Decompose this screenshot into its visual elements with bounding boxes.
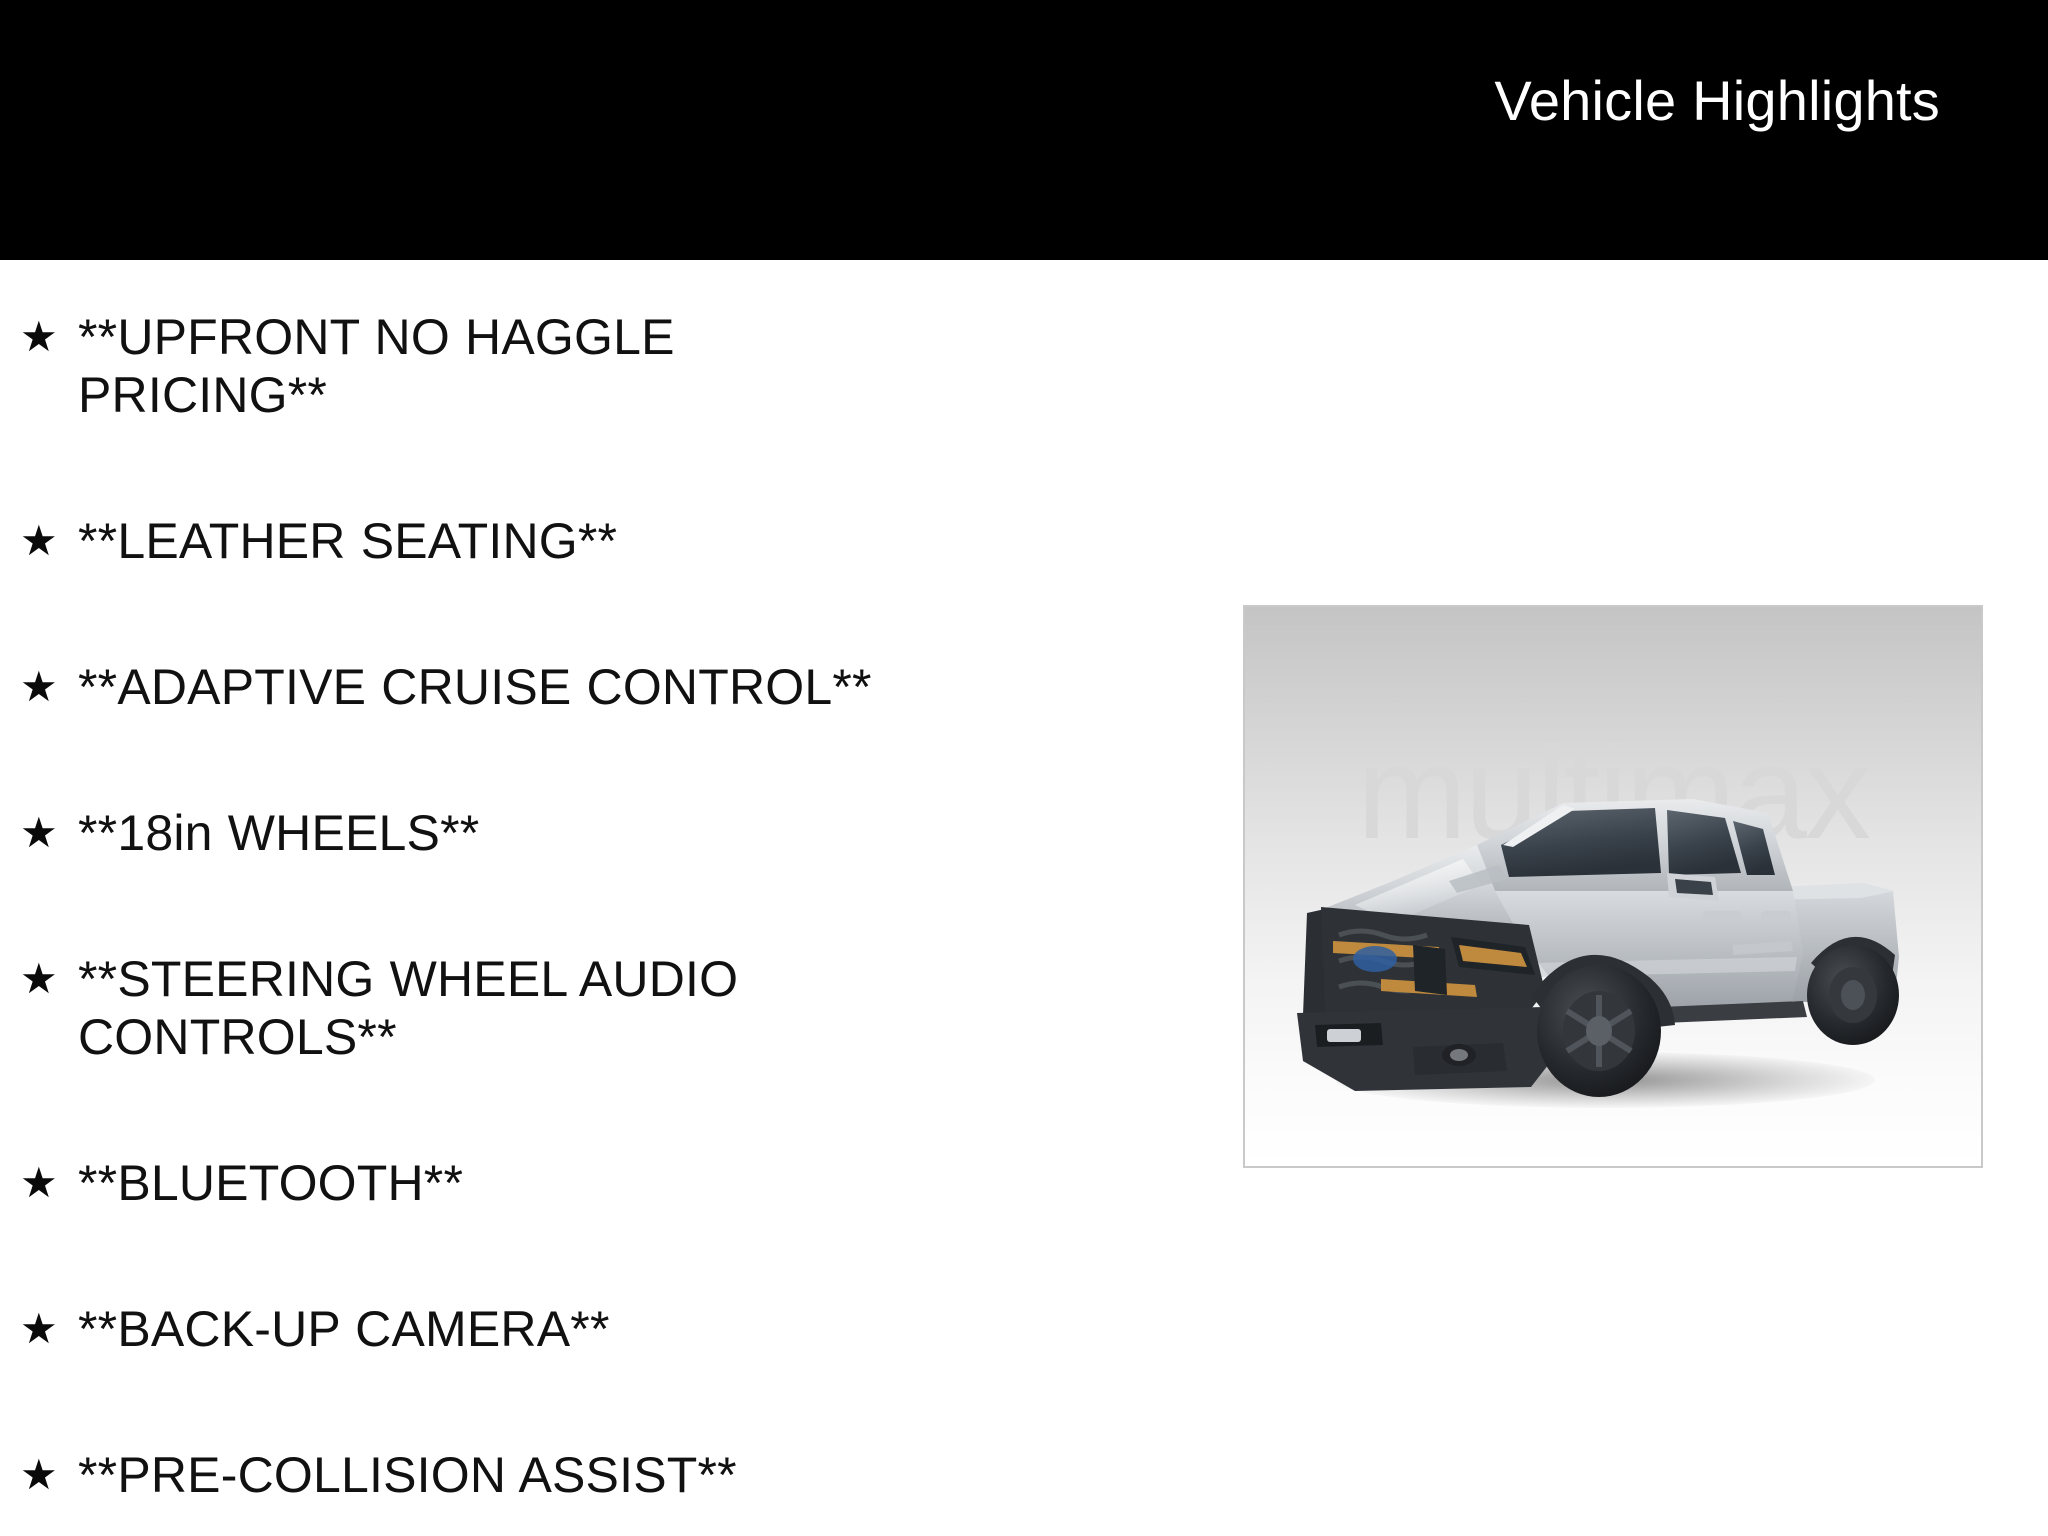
list-item: ★ **ADAPTIVE CRUISE CONTROL** [0, 658, 1180, 716]
highlight-label: **STEERING WHEEL AUDIO CONTROLS** [78, 950, 908, 1066]
star-icon: ★ [20, 1154, 78, 1212]
star-icon: ★ [20, 1300, 78, 1358]
truck-illustration [1263, 695, 1969, 1125]
star-icon: ★ [20, 308, 78, 366]
star-icon: ★ [20, 512, 78, 570]
highlight-label: **BACK-UP CAMERA** [78, 1300, 908, 1358]
list-item: ★ **BLUETOOTH** [0, 1154, 1180, 1212]
vehicle-highlights-list: ★ **UPFRONT NO HAGGLE PRICING** ★ **LEAT… [0, 260, 1180, 1504]
star-icon: ★ [20, 1446, 78, 1504]
highlight-label: **18in WHEELS** [78, 804, 908, 862]
star-icon: ★ [20, 950, 78, 1008]
highlight-label: **PRE-COLLISION ASSIST** [78, 1446, 908, 1504]
vehicle-photo[interactable]: multimax [1243, 605, 1983, 1168]
list-item: ★ **LEATHER SEATING** [0, 512, 1180, 570]
list-item: ★ **18in WHEELS** [0, 804, 1180, 862]
highlight-label: **LEATHER SEATING** [78, 512, 908, 570]
content-area: ★ **UPFRONT NO HAGGLE PRICING** ★ **LEAT… [0, 260, 2048, 1536]
list-item: ★ **BACK-UP CAMERA** [0, 1300, 1180, 1358]
star-icon: ★ [20, 658, 78, 716]
list-item: ★ **PRE-COLLISION ASSIST** [0, 1446, 1180, 1504]
highlight-label: **BLUETOOTH** [78, 1154, 908, 1212]
highlight-label: **ADAPTIVE CRUISE CONTROL** [78, 658, 908, 716]
page-title: Vehicle Highlights [1494, 70, 1940, 132]
header-bar: Vehicle Highlights [0, 0, 2048, 260]
star-icon: ★ [20, 804, 78, 862]
list-item: ★ **STEERING WHEEL AUDIO CONTROLS** [0, 950, 1180, 1066]
highlight-label: **UPFRONT NO HAGGLE PRICING** [78, 308, 908, 424]
list-item: ★ **UPFRONT NO HAGGLE PRICING** [0, 308, 1180, 424]
